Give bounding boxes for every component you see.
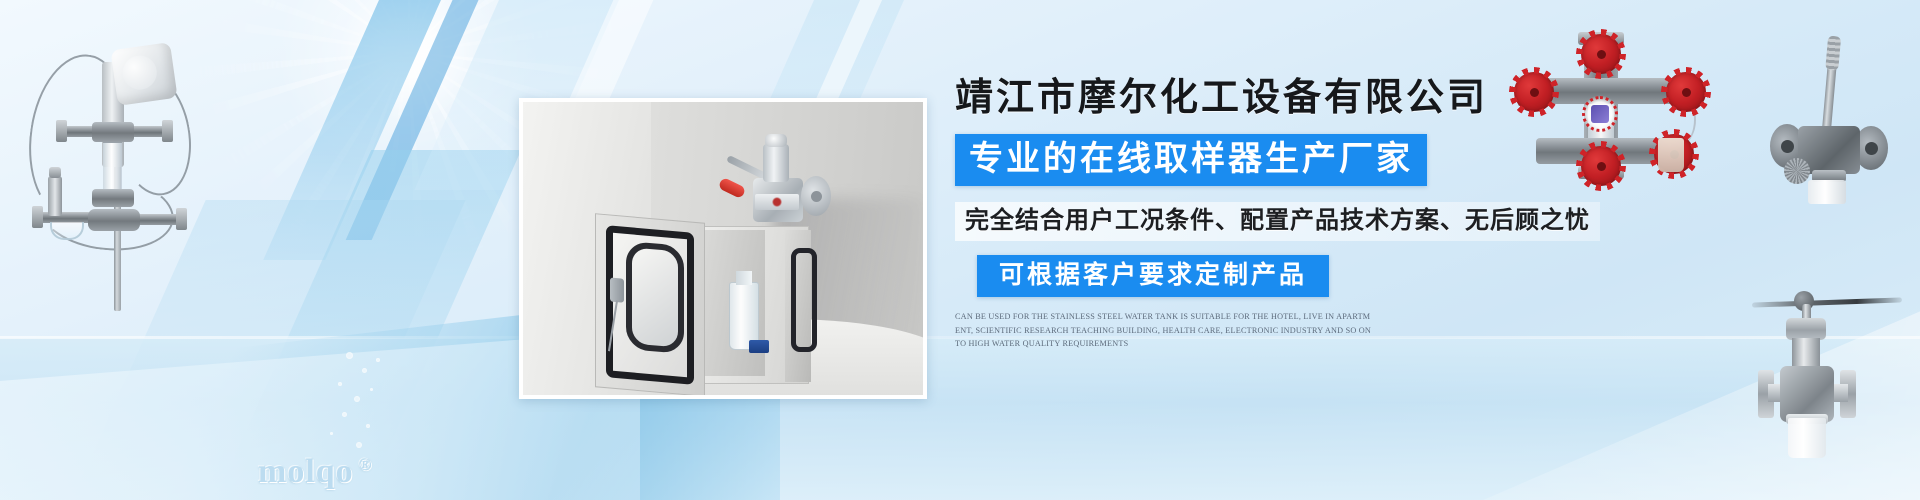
product-image-sampler-column <box>4 26 194 311</box>
flange <box>56 120 67 142</box>
flange <box>32 206 43 228</box>
cabinet-handle <box>791 248 817 352</box>
valve-handle-bar <box>1752 297 1902 307</box>
valve-lever-grip <box>718 177 747 199</box>
valve-nameplate <box>755 194 799 210</box>
registered-trademark-icon: ® <box>359 455 373 474</box>
handwheel-icon <box>1666 72 1706 112</box>
valve-hub <box>92 122 134 142</box>
product-image-flange-valve-bottom <box>1742 278 1920 456</box>
company-name: 靖江市摩尔化工设备有限公司 <box>955 78 1605 120</box>
sub-headline: 完全结合用户工况条件、配置产品技术方案、无后顾之忧 <box>955 202 1600 241</box>
valve-cap <box>765 134 787 147</box>
valve-hub <box>88 209 140 231</box>
tagline-badge: 可根据客户要求定制产品 <box>977 255 1329 298</box>
control-enclosure <box>110 42 177 106</box>
logo-wordmark: molqo <box>258 453 354 490</box>
valve-flange <box>801 176 831 216</box>
fineprint-description: CAN BE USED FOR THE STAINLESS STEEL WATE… <box>955 310 1375 350</box>
door-lock <box>610 278 624 303</box>
bottle-cap <box>749 340 769 353</box>
flange <box>162 120 173 142</box>
handwheel-icon <box>1581 34 1621 74</box>
product-image-flange-valve-top <box>1768 34 1918 199</box>
valve-arm <box>130 126 166 137</box>
cabinet-door <box>595 213 705 397</box>
headline-badge: 专业的在线取样器生产厂家 <box>955 134 1427 186</box>
outlet-tube <box>1808 180 1846 204</box>
flange <box>176 208 187 230</box>
relief-valve <box>48 176 62 216</box>
valve-lever <box>1822 36 1839 132</box>
valve-arm <box>62 126 96 137</box>
sampling-valve-assembly <box>719 138 839 230</box>
promotional-banner: 靖江市摩尔化工设备有限公司 专业的在线取样器生产厂家 完全结合用户工况条件、配置… <box>0 0 1920 500</box>
banner-copy: 靖江市摩尔化工设备有限公司 专业的在线取样器生产厂家 完全结合用户工况条件、配置… <box>955 78 1605 350</box>
valve-bonnet <box>763 144 789 182</box>
brand-logo: molqo® <box>258 455 372 489</box>
valve-bonnet <box>1786 318 1826 340</box>
adjust-knob <box>1784 158 1810 184</box>
sample-bottle <box>1788 418 1826 458</box>
product-photo <box>519 98 927 399</box>
valve-hub <box>92 189 134 207</box>
door-window <box>626 241 684 354</box>
sample-bottle <box>1658 138 1684 172</box>
